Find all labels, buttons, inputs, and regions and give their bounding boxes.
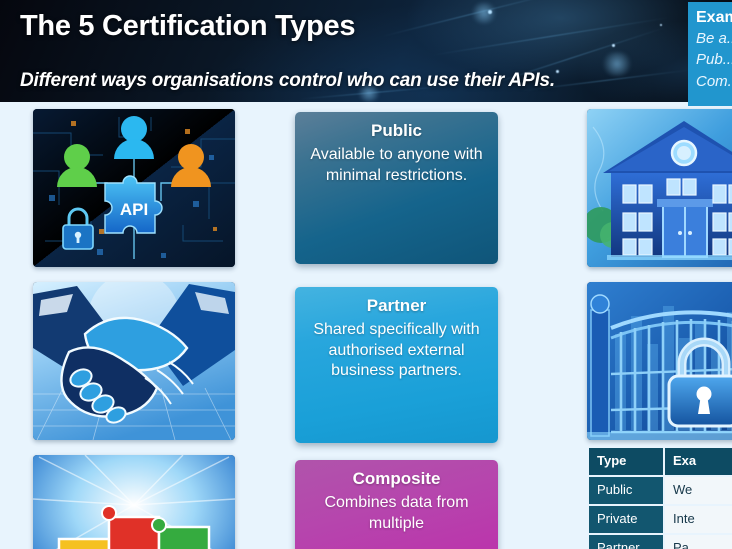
locked-gate-padlock-illustration xyxy=(587,282,732,440)
card-public-title: Public xyxy=(307,120,486,142)
examples-panel-line-2: Pub... xyxy=(696,49,732,70)
api-puzzle-piece: API xyxy=(105,176,162,233)
table-header-example: Exa xyxy=(665,448,732,475)
examples-panel-line-1: Be a... xyxy=(696,28,732,49)
card-composite[interactable]: Composite Combines data from multiple xyxy=(295,460,498,549)
svg-text:API: API xyxy=(120,200,148,219)
api-users-network-image: API xyxy=(33,109,235,267)
card-composite-description: Combines data from multiple xyxy=(307,493,486,534)
table-cell-type: Public xyxy=(589,477,663,504)
page-subtitle: Different ways organisations control who… xyxy=(20,70,555,92)
content-stage: API Public Available to anyone with mini… xyxy=(0,102,732,549)
card-public[interactable]: Public Available to anyone with minimal … xyxy=(295,112,498,264)
comparison-table: Type Exa Public We Private Inte Partner … xyxy=(587,446,732,549)
handshake-image xyxy=(33,282,235,440)
puzzle-pieces-image xyxy=(33,455,235,549)
table-row: Private Inte xyxy=(589,506,732,533)
card-public-description: Available to anyone with minimal restric… xyxy=(307,145,486,186)
table-row: Partner Pa xyxy=(589,535,732,549)
table-header-type: Type xyxy=(589,448,663,475)
locked-gate-image xyxy=(587,282,732,440)
table-cell-example: Inte xyxy=(665,506,732,533)
card-partner-title: Partner xyxy=(307,295,486,317)
blue-institution-building-illustration xyxy=(587,109,732,267)
colorful-puzzle-pieces-illustration xyxy=(33,455,235,549)
table-cell-example: We xyxy=(665,477,732,504)
api-users-network-illustration: API xyxy=(33,109,235,267)
card-partner-description: Shared specifically with authorised exte… xyxy=(307,320,486,381)
handshake-illustration xyxy=(33,282,235,440)
examples-panel-title: Examples xyxy=(696,8,732,28)
page-title: The 5 Certification Types xyxy=(20,10,355,43)
examples-panel: Examples Be a... Pub... Com... xyxy=(688,2,732,106)
table-cell-type: Private xyxy=(589,506,663,533)
card-partner[interactable]: Partner Shared specifically with authori… xyxy=(295,287,498,443)
institution-building-image xyxy=(587,109,732,267)
card-composite-title: Composite xyxy=(307,468,486,490)
table-cell-type: Partner xyxy=(589,535,663,549)
examples-panel-line-3: Com... xyxy=(696,71,732,92)
page-header: The 5 Certification Types Different ways… xyxy=(0,0,732,102)
table-row: Public We xyxy=(589,477,732,504)
table-header-row: Type Exa xyxy=(589,448,732,475)
table-cell-example: Pa xyxy=(665,535,732,549)
